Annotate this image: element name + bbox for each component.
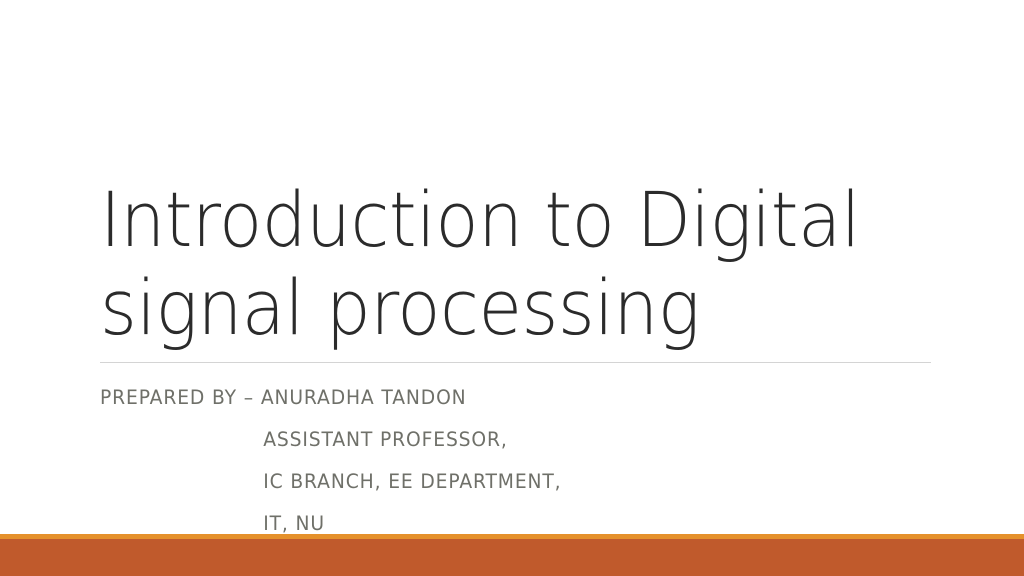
title-divider bbox=[100, 362, 931, 363]
accent-band-bottom bbox=[0, 539, 1024, 576]
title-block: Introduction to Digital signal processin… bbox=[100, 176, 940, 352]
subtitle-line-prepared-by: PREPARED BY – ANURADHA TANDON bbox=[100, 377, 926, 419]
slide-title: Introduction to Digital signal processin… bbox=[100, 176, 881, 352]
subtitle-line-department: IC BRANCH, EE DEPARTMENT, bbox=[100, 461, 926, 503]
presentation-slide: Introduction to Digital signal processin… bbox=[0, 0, 1024, 576]
subtitle-line-designation: ASSISTANT PROFESSOR, bbox=[100, 419, 926, 461]
subtitle-block: PREPARED BY – ANURADHA TANDON ASSISTANT … bbox=[100, 377, 960, 545]
